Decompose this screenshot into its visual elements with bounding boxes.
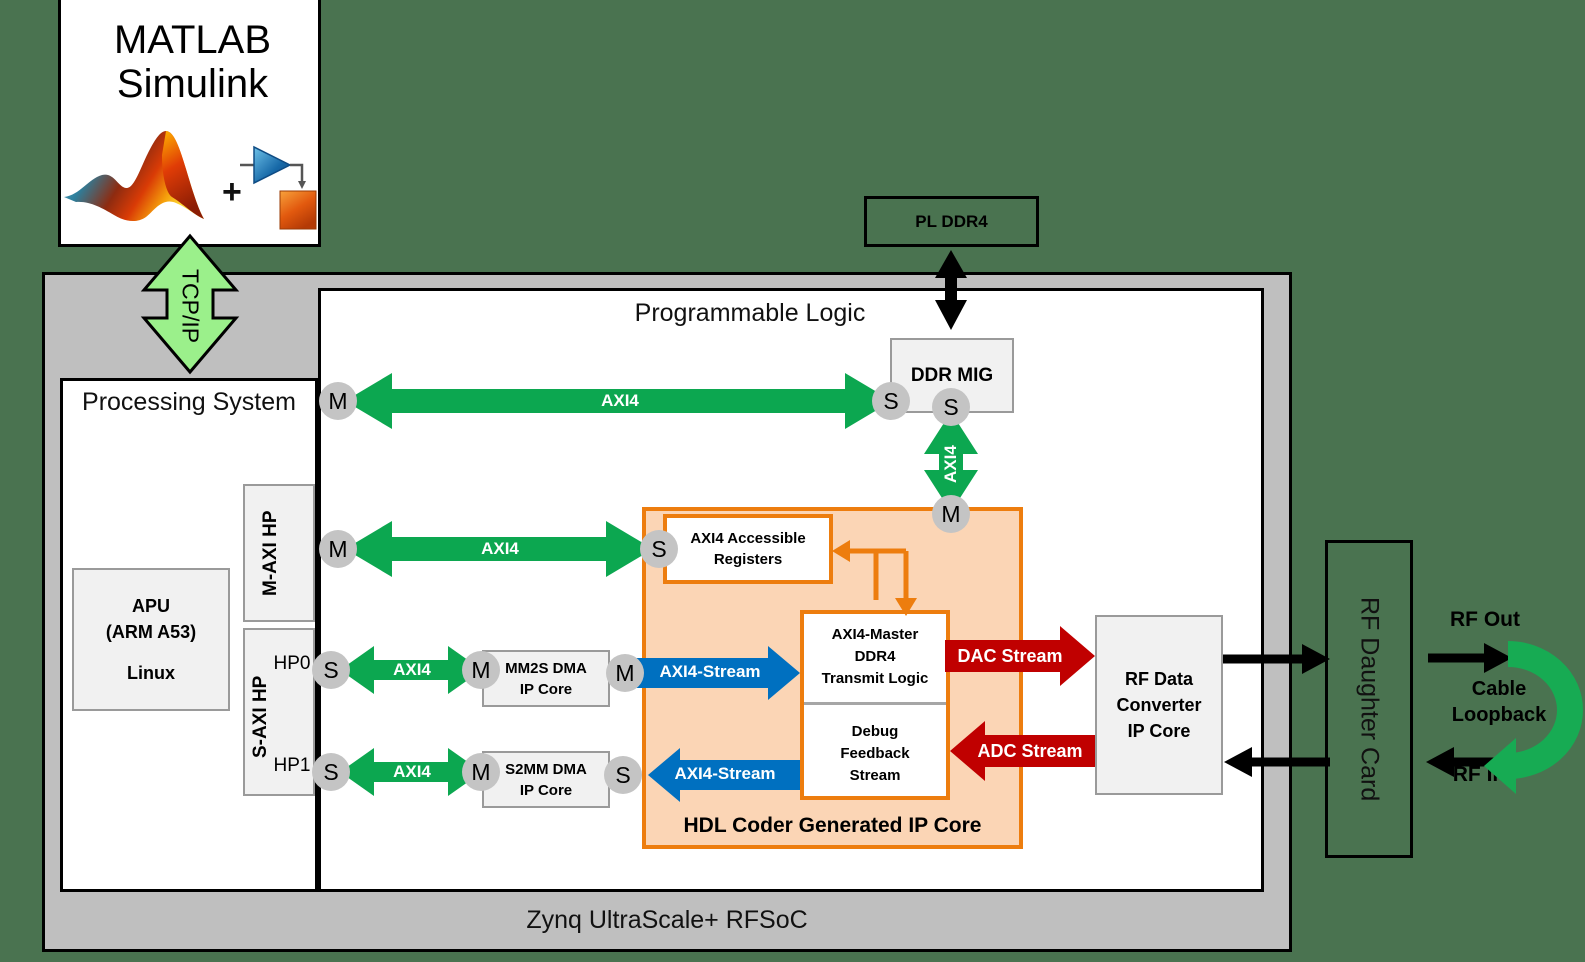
axi4-top-arrow-label: AXI4	[570, 390, 670, 412]
s2mm-label-line1: S2MM DMA	[505, 759, 587, 780]
debug-label-line1: Debug	[852, 721, 899, 743]
mm2s-label-line2: IP Core	[520, 679, 572, 700]
soc-bottom-label: Zynq UltraScale+ RFSoC	[42, 895, 1292, 945]
mm2s-dma-block: MM2S DMA IP Core	[482, 650, 610, 707]
diagram-canvas: MATLAB Simulink	[0, 0, 1585, 962]
apu-label-line2: (ARM A53)	[106, 619, 196, 645]
rfdc-label-line2: Converter	[1116, 692, 1201, 718]
axi4-accessible-registers-block: AXI4 Accessible Registers	[663, 514, 833, 584]
port-ps-hp0-slave[interactable]: S	[312, 651, 350, 689]
hp1-label: HP1	[268, 752, 316, 780]
loopback-label-line2: Loopback	[1452, 702, 1546, 728]
rfdc-label-line1: RF Data	[1125, 666, 1193, 692]
registers-label-line2: Registers	[714, 549, 782, 570]
hp0-label: HP0	[268, 650, 316, 678]
tx-label-line1: AXI4-Master	[832, 624, 919, 646]
debug-feedback-stream-label: Debug Feedback Stream	[802, 712, 948, 796]
port-s2mm-dma-out-slave[interactable]: S	[604, 756, 642, 794]
matlab-title: MATLAB Simulink	[61, 10, 324, 115]
simulink-scope-icon	[280, 191, 316, 229]
s2mm-dma-block: S2MM DMA IP Core	[482, 751, 610, 808]
port-ddrmig-slave-bottom[interactable]: S	[932, 388, 970, 426]
axi4-hp1-arrow-label: AXI4	[362, 761, 462, 783]
matlab-logo-svg: +	[62, 125, 317, 243]
port-mm2s-dma-out-master[interactable]: M	[606, 654, 644, 692]
programmable-logic-title: Programmable Logic	[400, 293, 1100, 333]
tx-label-line2: DDR4	[855, 646, 896, 668]
port-mm2s-dma-in-master[interactable]: M	[462, 651, 500, 689]
adc-stream-arrow-label: ADC Stream	[975, 739, 1085, 763]
axi4-stream-in-arrow-label: AXI4-Stream	[645, 661, 775, 683]
matlab-logo-strip: +	[62, 125, 317, 243]
tx-debug-divider	[804, 702, 946, 705]
s2mm-label-line2: IP Core	[520, 780, 572, 801]
dac-stream-arrow-label: DAC Stream	[955, 644, 1065, 668]
mm2s-label-line1: MM2S DMA	[505, 658, 587, 679]
cable-loopback-label: Cable Loopback	[1440, 672, 1558, 732]
port-s2mm-dma-in-master[interactable]: M	[462, 753, 500, 791]
processing-system-title: Processing System	[62, 384, 316, 420]
axi4-stream-out-arrow-label: AXI4-Stream	[660, 763, 790, 785]
apu-label-line3: Linux	[127, 660, 175, 686]
rf-out-arrow	[1428, 643, 1512, 673]
registers-label-line1: AXI4 Accessible	[690, 528, 805, 549]
rf-out-label: RF Out	[1430, 605, 1540, 635]
axi4-mig-vertical-arrow-label: AXI4	[940, 432, 962, 496]
debug-label-line2: Feedback	[840, 743, 909, 765]
pl-ddr4-block: PL DDR4	[864, 196, 1039, 247]
port-ipcore-registers-slave[interactable]: S	[640, 530, 678, 568]
matlab-title-line2: Simulink	[117, 63, 268, 106]
debug-label-line3: Stream	[850, 765, 901, 787]
simulink-gain-icon	[240, 147, 306, 189]
axi4-hp0-arrow-label: AXI4	[362, 659, 462, 681]
tx-label-line3: Transmit Logic	[822, 668, 929, 690]
axi4-master-ddr4-transmit-logic-label: AXI4-Master DDR4 Transmit Logic	[802, 614, 948, 700]
port-ps-hp1-slave[interactable]: S	[312, 753, 350, 791]
port-ipcore-master[interactable]: M	[932, 495, 970, 533]
rf-data-converter-block: RF Data Converter IP Core	[1095, 615, 1223, 795]
port-ps-top-master[interactable]: M	[319, 382, 357, 420]
port-ddrmig-slave-left[interactable]: S	[872, 382, 910, 420]
tcpip-arrow-label: TCP/IP	[177, 262, 203, 350]
apu-block: APU (ARM A53) Linux	[72, 568, 230, 711]
rfdc-label-line3: IP Core	[1128, 718, 1191, 744]
loopback-label-line1: Cable	[1472, 676, 1526, 702]
matlab-title-line1: MATLAB	[114, 19, 271, 62]
rf-daughter-card-label: RF Daughter Card	[1325, 540, 1413, 858]
m-axi-hp-label: M-AXI HP	[243, 484, 299, 622]
hdl-ip-core-title: HDL Coder Generated IP Core	[646, 808, 1019, 844]
apu-label-line1: APU	[132, 593, 170, 619]
rf-in-label: RF In	[1424, 760, 1534, 790]
axi4-maxi-arrow-label: AXI4	[450, 538, 550, 560]
matlab-plus-glyph: +	[222, 173, 242, 211]
port-ps-maxi-master[interactable]: M	[319, 530, 357, 568]
